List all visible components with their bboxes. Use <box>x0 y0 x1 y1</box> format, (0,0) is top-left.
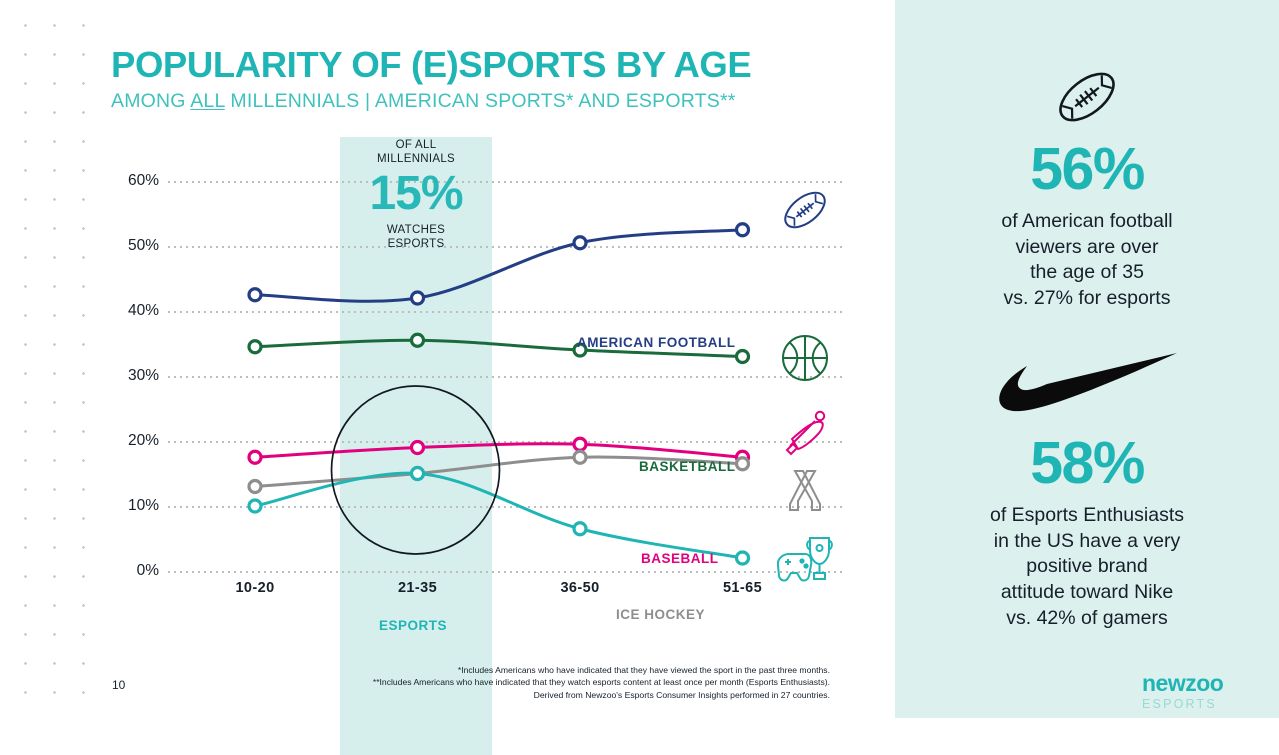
series-label-esports: ESPORTS <box>379 618 447 633</box>
line-chart: 0%10%20%30%40%50%60% 10-2021-3536-5051-6… <box>111 130 851 630</box>
data-point <box>574 438 586 450</box>
data-point <box>737 552 749 564</box>
page-title: POPULARITY OF (E)SPORTS BY AGE <box>111 47 751 84</box>
data-point <box>574 451 586 463</box>
subtitle-underlined: ALL <box>190 90 225 112</box>
data-point <box>574 523 586 535</box>
data-point <box>737 458 749 470</box>
nike-swoosh-logo <box>895 338 1279 430</box>
data-point <box>737 351 749 363</box>
data-point <box>412 442 424 454</box>
series-label-american-football: AMERICAN FOOTBALL <box>577 335 735 350</box>
esports-callout: OF ALLMILLENNIALS 15% WATCHESESPORTS <box>340 138 492 251</box>
data-point <box>412 292 424 304</box>
american-football-icon <box>775 187 835 233</box>
series-label-basketball: BASKETBALL <box>639 459 736 474</box>
sport-icons-column <box>775 130 835 600</box>
data-point <box>412 468 424 480</box>
footnotes: *Includes Americans who have indicated t… <box>310 664 830 701</box>
subtitle-pre: AMONG <box>111 90 190 112</box>
subtitle-post: MILLENNIALS | AMERICAN SPORTS* AND ESPOR… <box>225 90 736 112</box>
stat-card-nike: 58% of Esports Enthusiastsin the US have… <box>895 338 1279 632</box>
series-label-baseball: BASEBALL <box>641 551 719 566</box>
infographic-slide: 56% of American footballviewers are over… <box>0 0 1279 718</box>
stat-value-football: 56% <box>895 140 1279 199</box>
page-subtitle: AMONG ALL MILLENNIALS | AMERICAN SPORTS*… <box>111 90 736 113</box>
data-point <box>249 289 261 301</box>
callout-bottom-text: WATCHESESPORTS <box>340 223 492 251</box>
page-number: 10 <box>112 678 125 692</box>
data-point <box>737 224 749 236</box>
gamepad-trophy-icon <box>775 532 835 586</box>
series-label-ice-hockey: ICE HOCKEY <box>616 607 705 622</box>
data-point <box>249 341 261 353</box>
stat-text-nike: of Esports Enthusiastsin the US have a v… <box>895 503 1279 632</box>
series-line-american-football <box>255 230 743 301</box>
ice-hockey-sticks-icon <box>775 468 835 518</box>
logo-primary-text: newzoo <box>1142 672 1223 695</box>
decorative-dot-grid <box>0 0 92 718</box>
data-point <box>574 237 586 249</box>
right-stats-panel: 56% of American footballviewers are over… <box>895 0 1279 718</box>
footnote-3: Derived from Newzoo's Esports Consumer I… <box>310 689 830 701</box>
footnote-2: **Includes Americans who have indicated … <box>310 676 830 688</box>
baseball-bat-icon <box>775 408 835 458</box>
stat-card-football: 56% of American footballviewers are over… <box>895 58 1279 312</box>
basketball-icon <box>775 333 835 383</box>
data-point <box>412 334 424 346</box>
callout-value: 15% <box>340 170 492 218</box>
data-point <box>249 451 261 463</box>
stat-text-football: of American footballviewers are overthe … <box>895 209 1279 312</box>
callout-top-text: OF ALLMILLENNIALS <box>340 138 492 166</box>
stat-value-nike: 58% <box>895 434 1279 493</box>
footnote-1: *Includes Americans who have indicated t… <box>310 664 830 676</box>
newzoo-logo: newzoo ESPORTS <box>1142 672 1223 711</box>
data-point <box>249 500 261 512</box>
logo-secondary-text: ESPORTS <box>1142 698 1223 711</box>
data-point <box>249 481 261 493</box>
american-football-icon <box>895 58 1279 136</box>
